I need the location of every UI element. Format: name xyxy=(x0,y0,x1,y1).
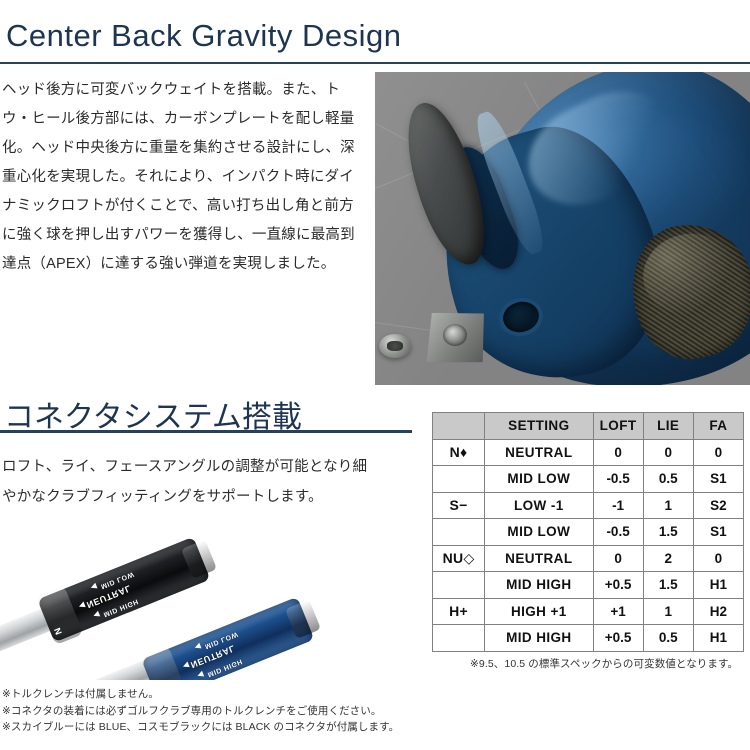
table-row: N♦NEUTRAL000 xyxy=(433,439,744,466)
cell-loft: -1 xyxy=(593,492,643,519)
cell-loft: -0.5 xyxy=(593,519,643,546)
cell-fa: 0 xyxy=(693,545,743,572)
cell-fa: 0 xyxy=(693,439,743,466)
sleeve-label-group: MID HIGH NEUTRAL MID LOW xyxy=(70,543,203,626)
cell-lie: 1 xyxy=(643,598,693,625)
sleeve-arrow-icon xyxy=(194,643,202,651)
section-divider-2 xyxy=(0,430,412,433)
cell-lie: 1 xyxy=(643,492,693,519)
table-header-loft: LOFT xyxy=(593,413,643,440)
black-connector-sleeve: N MID HIGH NEUTRAL MID LOW xyxy=(37,537,210,643)
table-header-code xyxy=(433,413,485,440)
cell-setting: LOW -1 xyxy=(485,492,593,519)
footnote-group: ※トルクレンチは付属しません。 ※コネクタの装着には必ずゴルフクラブ専用のトルク… xyxy=(2,686,399,736)
table-header-lie: LIE xyxy=(643,413,693,440)
cell-loft: -0.5 xyxy=(593,466,643,493)
cell-code xyxy=(433,572,485,599)
cell-loft: +1 xyxy=(593,598,643,625)
cell-setting: NEUTRAL xyxy=(485,545,593,572)
section-divider-1 xyxy=(0,62,750,64)
cell-fa: S1 xyxy=(693,519,743,546)
section-title-center-back-gravity-design: Center Back Gravity Design xyxy=(6,18,401,54)
cell-fa: H1 xyxy=(693,572,743,599)
table-row: H+HIGH +1+11H2 xyxy=(433,598,744,625)
cell-code xyxy=(433,519,485,546)
cell-fa: H1 xyxy=(693,625,743,652)
driver-head-render-image xyxy=(375,72,750,385)
cell-code: NU◇ xyxy=(433,545,485,572)
footnote-line: ※コネクタの装着には必ずゴルフクラブ専用のトルクレンチをご使用ください。 xyxy=(2,703,399,720)
product-feature-page: Center Back Gravity Design ヘッド後方に可変バックウェ… xyxy=(0,0,750,750)
cell-code: S− xyxy=(433,492,485,519)
cell-fa: S2 xyxy=(693,492,743,519)
table-row: MID LOW-0.51.5S1 xyxy=(433,519,744,546)
table-header-setting: SETTING xyxy=(485,413,593,440)
cell-code xyxy=(433,466,485,493)
weight-screw-slot xyxy=(387,341,403,351)
section-body-text-1: ヘッド後方に可変バックウェイトを搭載。また、トウ・ヒール後方部には、カーボンプレ… xyxy=(2,76,368,279)
cell-fa: H2 xyxy=(693,598,743,625)
table-row: NU◇NEUTRAL020 xyxy=(433,545,744,572)
cell-code: N♦ xyxy=(433,439,485,466)
cell-loft: 0 xyxy=(593,545,643,572)
back-weight-hole xyxy=(443,324,467,346)
footnote-line: ※スカイブルーには BLUE、コスモブラックには BLACK のコネクタが付属し… xyxy=(2,719,399,736)
cell-code: H+ xyxy=(433,598,485,625)
cell-lie: 0.5 xyxy=(643,466,693,493)
cell-lie: 1.5 xyxy=(643,572,693,599)
cell-code xyxy=(433,625,485,652)
blue-connector-sleeve: N MID HIGH NEUTRAL MID LOW xyxy=(141,597,314,680)
spec-table-note: ※9.5、10.5 の標準スペックからの可変数値となります。 xyxy=(470,656,738,671)
cell-setting: MID HIGH xyxy=(485,572,593,599)
sleeve-arrow-icon xyxy=(196,671,204,679)
table-row: MID HIGH+0.51.5H1 xyxy=(433,572,744,599)
cell-lie: 2 xyxy=(643,545,693,572)
section-body-text-2: ロフト、ライ、フェースアングルの調整が可能となり細やかなクラブフィッティングをサ… xyxy=(2,452,374,512)
table-row: MID HIGH+0.50.5H1 xyxy=(433,625,744,652)
footnote-line: ※トルクレンチは付属しません。 xyxy=(2,686,399,703)
sleeve-arrow-icon xyxy=(78,602,86,610)
table-row: MID LOW-0.50.5S1 xyxy=(433,466,744,493)
connector-spec-table: SETTING LOFT LIE FA N♦NEUTRAL000MID LOW-… xyxy=(432,412,744,652)
cell-fa: S1 xyxy=(693,466,743,493)
cell-setting: HIGH +1 xyxy=(485,598,593,625)
sleeve-arrow-icon xyxy=(90,583,98,591)
table-row: S−LOW -1-11S2 xyxy=(433,492,744,519)
cell-setting: MID LOW xyxy=(485,519,593,546)
sleeve-arrow-icon xyxy=(92,611,100,619)
table-header-row: SETTING LOFT LIE FA xyxy=(433,413,744,440)
cell-loft: 0 xyxy=(593,439,643,466)
cell-setting: MID LOW xyxy=(485,466,593,493)
cell-setting: NEUTRAL xyxy=(485,439,593,466)
connector-sleeves-image: N MID HIGH NEUTRAL MID LOW N MID HIGH NE… xyxy=(0,512,320,680)
cell-loft: +0.5 xyxy=(593,572,643,599)
cell-lie: 0.5 xyxy=(643,625,693,652)
sleeve-arrow-icon xyxy=(182,662,190,670)
cell-lie: 0 xyxy=(643,439,693,466)
cell-lie: 1.5 xyxy=(643,519,693,546)
cell-setting: MID HIGH xyxy=(485,625,593,652)
table-header-fa: FA xyxy=(693,413,743,440)
sleeve-label-group: MID HIGH NEUTRAL MID LOW xyxy=(174,603,307,680)
cell-loft: +0.5 xyxy=(593,625,643,652)
